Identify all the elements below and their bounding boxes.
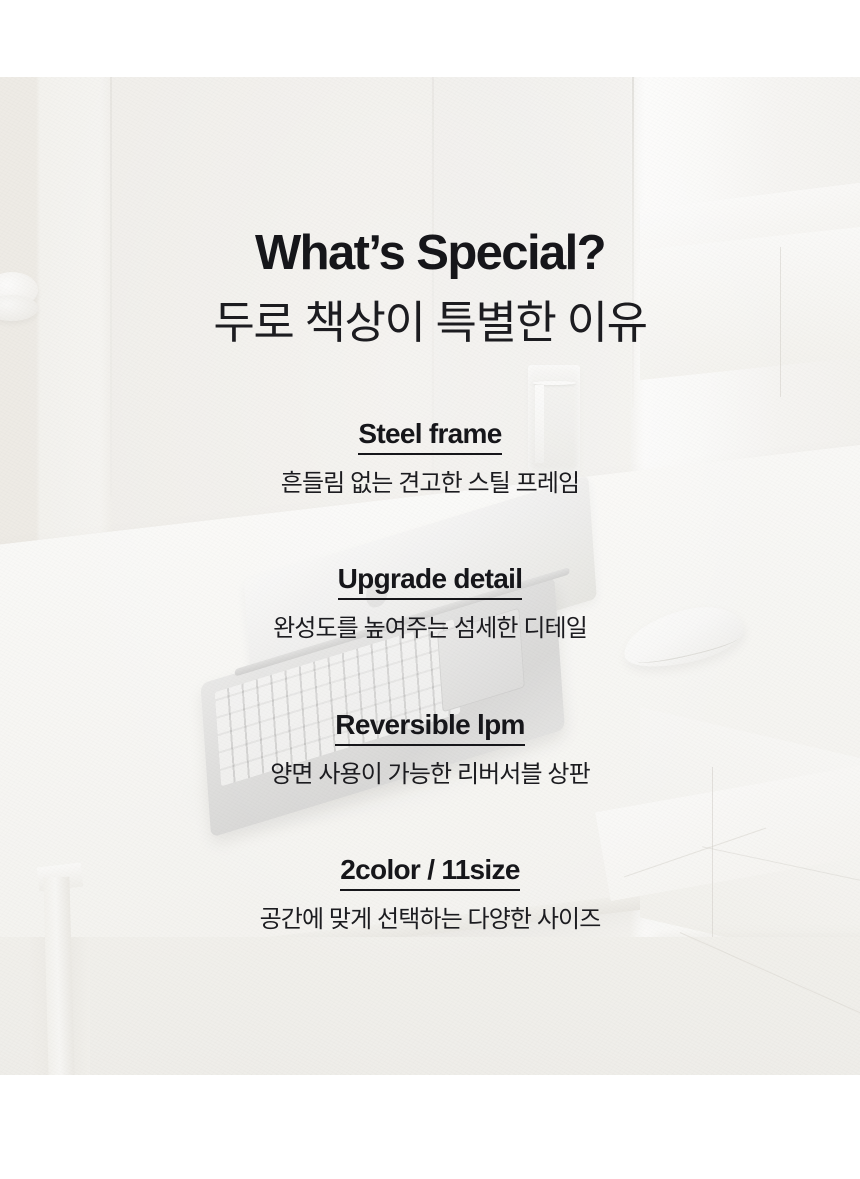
feature-description: 공간에 맞게 선택하는 다양한 사이즈 bbox=[0, 904, 860, 935]
feature-title-wrap: Reversible lpm bbox=[0, 707, 860, 746]
feature-title: Upgrade detail bbox=[338, 561, 523, 600]
feature-description: 흔들림 없는 견고한 스틸 프레임 bbox=[0, 468, 860, 499]
feature-description: 완성도를 높여주는 섬세한 디테일 bbox=[0, 613, 860, 644]
feature-block-steel-frame: Steel frame 흔들림 없는 견고한 스틸 프레임 bbox=[0, 416, 860, 499]
product-detail-page: What’s Special? 두로 책상이 특별한 이유 Steel fram… bbox=[0, 0, 860, 1179]
feature-title-wrap: Steel frame bbox=[0, 416, 860, 455]
page-subtitle: 두로 책상이 특별한 이유 bbox=[0, 296, 860, 349]
feature-description: 양면 사용이 가능한 리버서블 상판 bbox=[0, 759, 860, 790]
feature-block-color-size: 2color / 11size 공간에 맞게 선택하는 다양한 사이즈 bbox=[0, 852, 860, 935]
feature-block-upgrade-detail: Upgrade detail 완성도를 높여주는 섬세한 디테일 bbox=[0, 561, 860, 644]
feature-title: 2color / 11size bbox=[340, 852, 519, 891]
page-title: What’s Special? bbox=[0, 226, 860, 281]
text-overlay: What’s Special? 두로 책상이 특별한 이유 Steel fram… bbox=[0, 0, 860, 1179]
feature-block-reversible-lpm: Reversible lpm 양면 사용이 가능한 리버서블 상판 bbox=[0, 707, 860, 790]
feature-title: Reversible lpm bbox=[335, 707, 524, 746]
feature-title-wrap: 2color / 11size bbox=[0, 852, 860, 891]
feature-title: Steel frame bbox=[358, 416, 501, 455]
feature-title-wrap: Upgrade detail bbox=[0, 561, 860, 600]
